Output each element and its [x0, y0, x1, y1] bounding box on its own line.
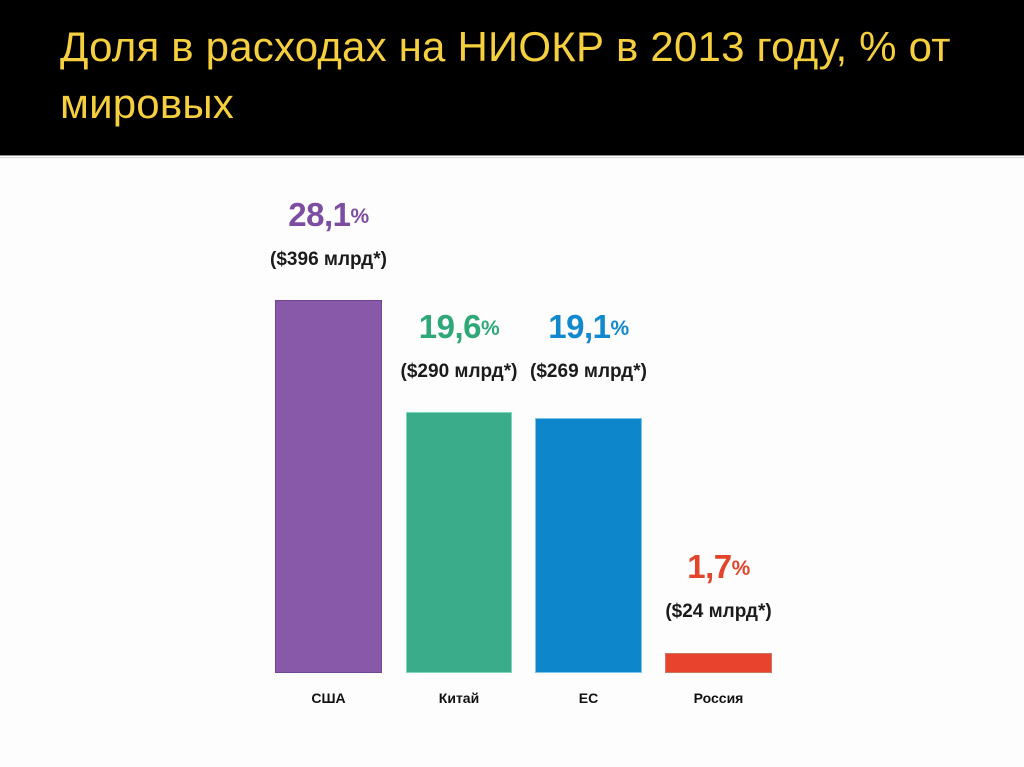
bar-absolute-label-russia: ($24 млрд*) [665, 602, 771, 621]
bar-group-eu: 19,1% ($269 млрд*) ЕС [535, 158, 642, 767]
bar-group-russia: 1,7% ($24 млрд*) Россия [665, 158, 772, 767]
page-title: Доля в расходах на НИОКР в 2013 году, % … [60, 18, 960, 132]
bar-value-label-usa: 28,1% [288, 198, 368, 231]
bar-value-china: 19,6 [419, 308, 481, 345]
bar-rect-usa[interactable] [275, 300, 382, 673]
bar-group-china: 19,6% ($290 млрд*) Китай [406, 158, 512, 767]
bar-group-usa: 28,1% ($396 млрд*) США [275, 158, 382, 767]
slide-canvas: Доля в расходах на НИОКР в 2013 году, % … [0, 0, 1024, 767]
bar-category-usa: США [311, 691, 345, 705]
bar-rect-china[interactable] [406, 412, 512, 673]
bar-absolute-label-china: ($290 млрд*) [401, 362, 518, 381]
bar-value-russia: 1,7 [687, 548, 731, 585]
bar-rect-russia[interactable] [665, 653, 772, 673]
bar-value-label-eu: 19,1% [548, 310, 628, 343]
bar-value-label-russia: 1,7% [687, 550, 750, 583]
bar-absolute-label-usa: ($396 млрд*) [270, 250, 387, 269]
percent-symbol-usa: % [351, 205, 369, 228]
percent-symbol-china: % [481, 317, 499, 340]
bar-chart: 28,1% ($396 млрд*) США 19,6% ($290 млрд*… [0, 158, 1024, 767]
percent-symbol-russia: % [732, 557, 750, 580]
bar-absolute-label-eu: ($269 млрд*) [530, 362, 647, 381]
bar-rect-eu[interactable] [535, 418, 642, 673]
bar-category-russia: Россия [694, 691, 744, 705]
bar-value-eu: 19,1 [548, 308, 610, 345]
bar-value-label-china: 19,6% [419, 310, 499, 343]
bar-value-usa: 28,1 [288, 196, 350, 233]
percent-symbol-eu: % [611, 317, 629, 340]
bar-category-china: Китай [439, 691, 479, 705]
title-banner: Доля в расходах на НИОКР в 2013 году, % … [0, 0, 1024, 155]
bar-category-eu: ЕС [579, 691, 598, 705]
